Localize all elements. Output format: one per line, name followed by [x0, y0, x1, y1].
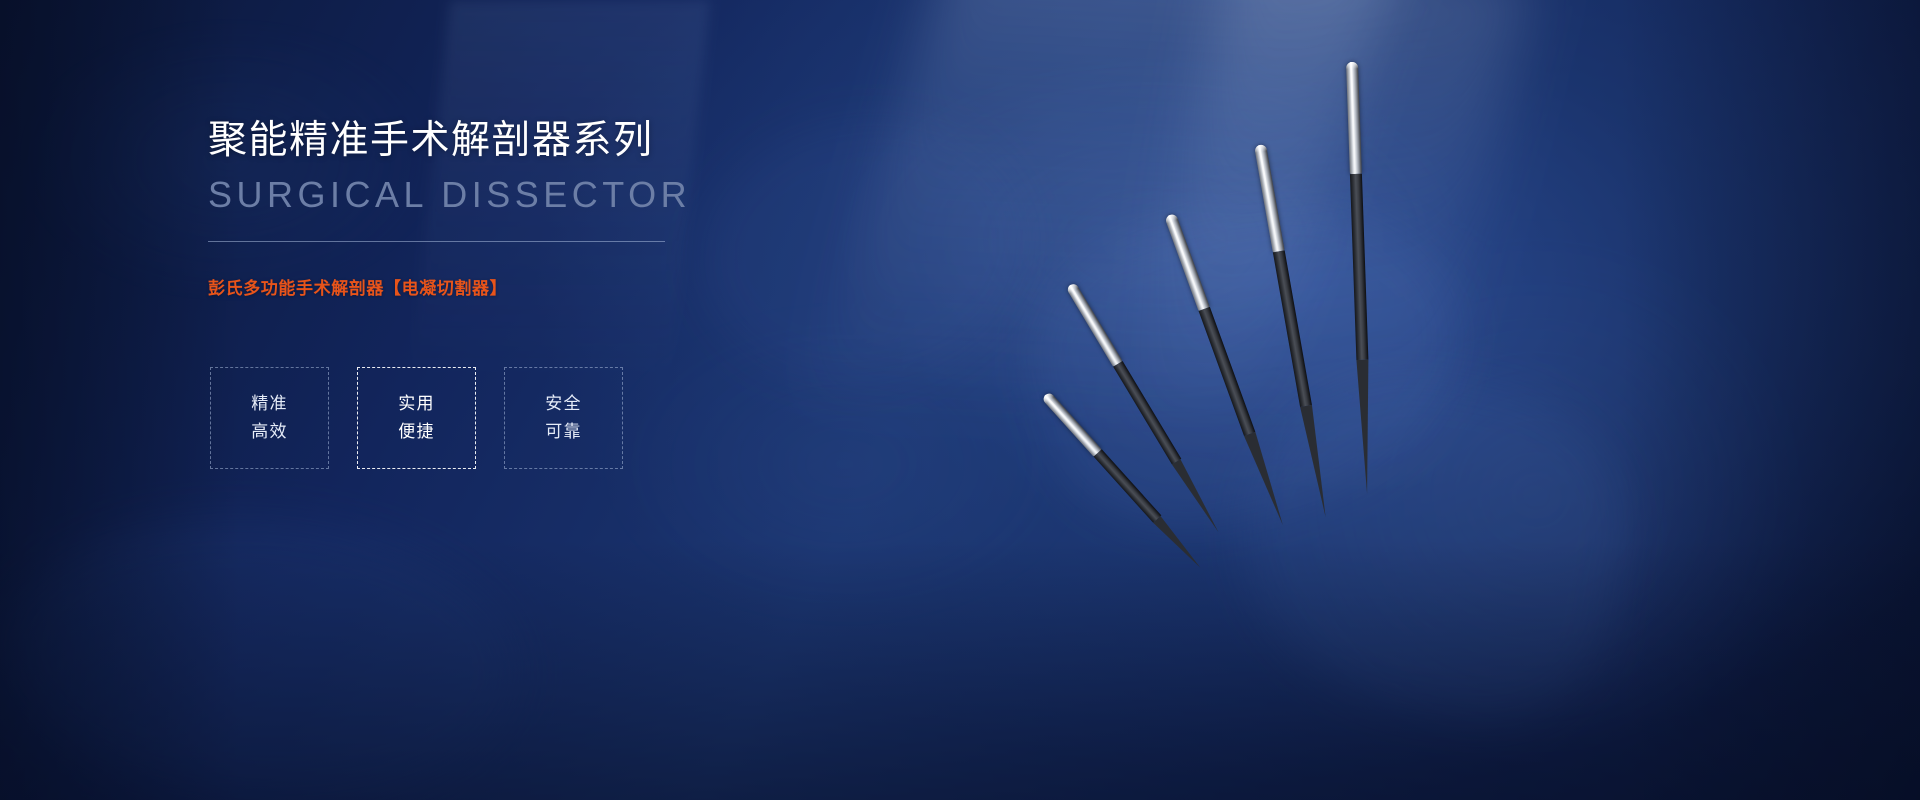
- hero-title-english: SURGICAL DISSECTOR: [208, 174, 828, 215]
- instrument-tip: [1300, 405, 1331, 518]
- instrument-handle: [1164, 213, 1209, 311]
- dissector-1: [1041, 391, 1204, 571]
- instrument-specular-highlight: [1044, 395, 1098, 454]
- instrument-specular-highlight: [1258, 145, 1279, 252]
- vignette-bottom: [0, 540, 1920, 800]
- instrument-specular-highlight: [1068, 285, 1117, 365]
- instrument-tip: [1153, 516, 1204, 571]
- instrument-handle: [1254, 144, 1285, 252]
- instrument-shaft: [1199, 307, 1256, 436]
- instrument-shaft: [1350, 174, 1368, 360]
- instrument-handle: [1041, 391, 1101, 456]
- instrument-specular-highlight: [1350, 62, 1356, 174]
- hero-divider: [208, 241, 665, 242]
- feature-badge-line-1: 安全: [545, 390, 581, 418]
- instrument-shaft: [1273, 250, 1312, 407]
- hero-product-name-highlight: 彭氏多功能手术解剖器【电凝切割器】: [208, 274, 828, 299]
- feature-badge-line-1: 精准: [251, 390, 287, 418]
- instrument-tip: [1171, 459, 1222, 534]
- feature-badge-2: 实用便捷: [357, 367, 476, 469]
- feature-badge-line-1: 实用: [398, 390, 434, 418]
- product-image-instruments: [960, 40, 1480, 570]
- instrument-handle: [1346, 62, 1362, 174]
- feature-badge-group: 精准高效实用便捷安全可靠: [210, 367, 623, 469]
- hero-title-chinese: 聚能精准手术解剖器系列: [208, 118, 828, 164]
- feature-badge-line-2: 高效: [251, 418, 287, 446]
- feature-badge-line-2: 便捷: [398, 418, 434, 446]
- feature-badge-1: 精准高效: [210, 367, 329, 469]
- hero-text-block: 聚能精准手术解剖器系列 SURGICAL DISSECTOR 彭氏多功能手术解剖…: [208, 118, 828, 299]
- dissector-5: [1346, 62, 1373, 494]
- feature-badge-line-2: 可靠: [545, 418, 581, 446]
- feature-badge-3: 安全可靠: [504, 367, 623, 469]
- instrument-shaft: [1113, 361, 1181, 464]
- instrument-handle: [1065, 282, 1122, 367]
- product-hero-banner: 聚能精准手术解剖器系列 SURGICAL DISSECTOR 彭氏多功能手术解剖…: [0, 0, 1920, 800]
- instrument-specular-highlight: [1168, 215, 1204, 310]
- instrument-tip: [1244, 432, 1288, 527]
- instrument-shaft: [1093, 449, 1161, 523]
- instrument-tip: [1356, 360, 1373, 494]
